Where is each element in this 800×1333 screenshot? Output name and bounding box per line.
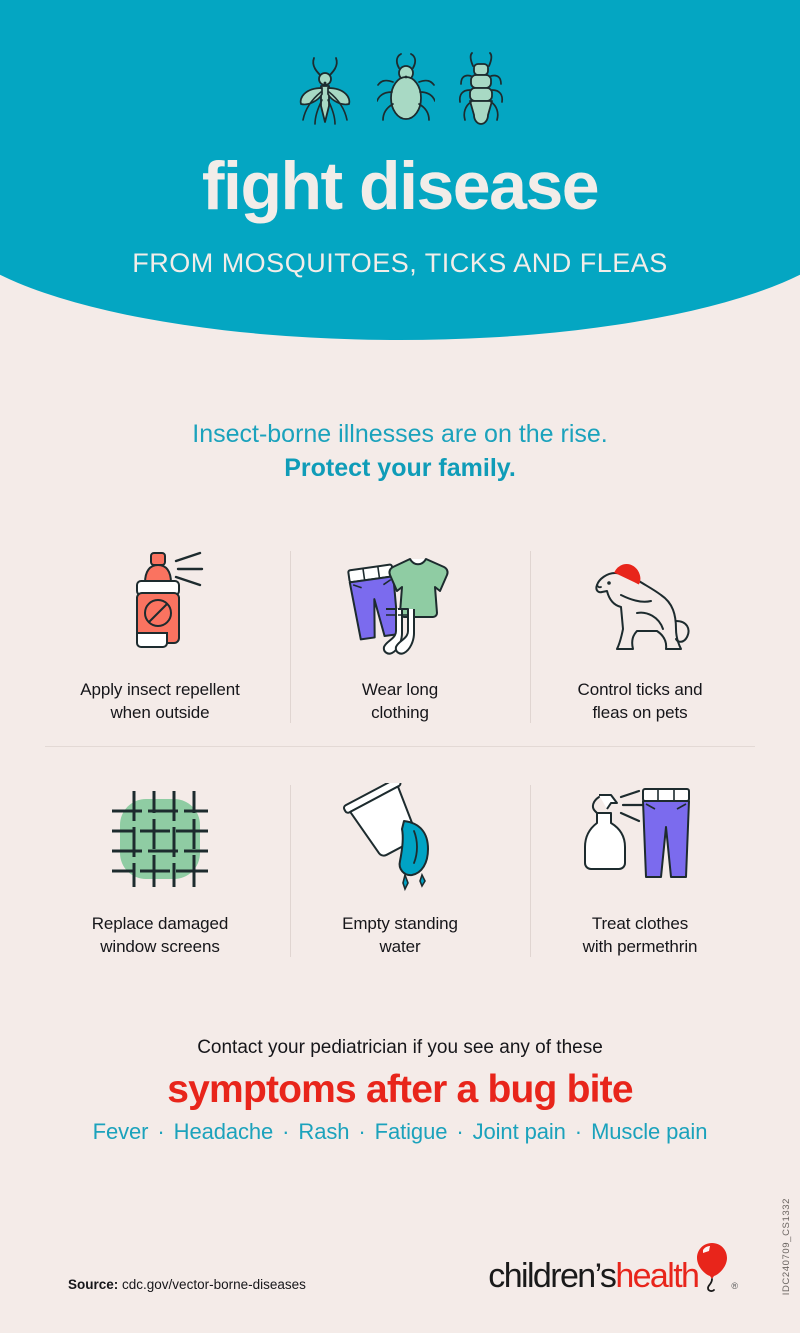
tip-caption-line1: Apply insect repellent xyxy=(80,680,239,699)
tips-row-1: Apply insect repellent when outside xyxy=(40,545,760,725)
tip-caption-line1: Control ticks and xyxy=(578,680,703,699)
tip-caption-line2: water xyxy=(379,937,420,956)
symptom-item: Muscle pain xyxy=(591,1119,707,1144)
logo-word-childrens: children’s xyxy=(488,1257,615,1295)
tip-item-repellent: Apply insect repellent when outside xyxy=(40,545,280,725)
page-subtitle: FROM MOSQUITOES, TICKS AND FLEAS xyxy=(0,248,800,279)
spray-bottle-pants-icon xyxy=(575,783,705,895)
tip-item-pets: Control ticks and fleas on pets xyxy=(520,545,760,725)
flea-icon xyxy=(457,52,505,130)
tip-item-window-screens: Replace damaged window screens xyxy=(40,779,280,959)
tip-art xyxy=(581,545,699,665)
registered-trademark: ® xyxy=(731,1281,738,1291)
tip-caption: Treat clothes with permethrin xyxy=(583,913,698,959)
tip-caption-line2: when outside xyxy=(111,703,210,722)
window-screen-mesh-icon xyxy=(108,787,212,891)
source-citation: Source: cdc.gov/vector-borne-diseases xyxy=(68,1277,306,1292)
tip-caption-line1: Empty standing xyxy=(342,914,458,933)
bucket-pouring-water-icon xyxy=(342,783,458,895)
tip-art xyxy=(575,779,705,899)
symptom-item: Joint pain xyxy=(473,1119,566,1144)
symptom-separator: · xyxy=(148,1119,173,1144)
symptom-separator: · xyxy=(349,1119,374,1144)
tip-caption-line2: with permethrin xyxy=(583,937,698,956)
tip-caption: Apply insect repellent when outside xyxy=(80,679,239,725)
tip-caption-line2: clothing xyxy=(371,703,429,722)
symptoms-section: Contact your pediatrician if you see any… xyxy=(0,1035,800,1145)
repellent-spray-can-icon xyxy=(114,549,206,661)
symptom-separator: · xyxy=(566,1119,591,1144)
prevention-tips-grid: Apply insect repellent when outside xyxy=(40,545,760,959)
tip-caption: Replace damaged window screens xyxy=(92,913,228,959)
tip-caption: Wear long clothing xyxy=(362,679,438,725)
header-banner: fight disease FROM MOSQUITOES, TICKS AND… xyxy=(0,0,800,340)
symptom-item: Headache xyxy=(174,1119,274,1144)
mosquito-icon xyxy=(295,52,355,130)
insect-icon-row xyxy=(0,52,800,130)
tip-caption: Control ticks and fleas on pets xyxy=(578,679,703,725)
symptoms-headline: symptoms after a bug bite xyxy=(0,1068,800,1112)
logo-wordmark: children’shealth xyxy=(488,1259,698,1293)
symptom-separator: · xyxy=(273,1119,298,1144)
tick-icon xyxy=(377,52,435,130)
tip-art xyxy=(336,545,464,665)
symptom-item: Rash xyxy=(298,1119,349,1144)
tip-caption: Empty standing water xyxy=(342,913,458,959)
infographic-page: { "header": { "title": "fight disease", … xyxy=(0,0,800,1333)
symptom-item: Fever xyxy=(93,1119,149,1144)
page-title: fight disease xyxy=(0,152,800,220)
long-clothing-icon xyxy=(336,551,464,659)
tip-art xyxy=(114,545,206,665)
tip-art xyxy=(108,779,212,899)
row-divider-horizontal xyxy=(45,746,755,747)
symptoms-list: Fever · Headache · Rash · Fatigue · Join… xyxy=(0,1119,800,1145)
symptom-separator: · xyxy=(447,1119,472,1144)
lead-line-1: Insect-borne illnesses are on the rise. xyxy=(0,418,800,452)
logo-word-health: health xyxy=(615,1257,698,1295)
symptom-item: Fatigue xyxy=(375,1119,448,1144)
tip-caption-line2: window screens xyxy=(100,937,220,956)
tips-row-2: Replace damaged window screens Empt xyxy=(40,779,760,959)
dog-with-tick-icon xyxy=(581,551,699,659)
source-label: Source: xyxy=(68,1277,118,1292)
tip-caption-line1: Treat clothes xyxy=(592,914,688,933)
tip-art xyxy=(342,779,458,899)
lead-line-2: Protect your family. xyxy=(0,452,800,486)
side-document-code: IDC240709_CS1332 xyxy=(781,1198,792,1295)
lead-statement: Insect-borne illnesses are on the rise. … xyxy=(0,418,800,486)
footer: Source: cdc.gov/vector-borne-diseases ch… xyxy=(0,1213,800,1333)
tip-item-standing-water: Empty standing water xyxy=(280,779,520,959)
tip-caption-line2: fleas on pets xyxy=(592,703,687,722)
symptoms-intro: Contact your pediatrician if you see any… xyxy=(0,1035,800,1062)
source-value: cdc.gov/vector-borne-diseases xyxy=(122,1277,306,1292)
tip-item-permethrin: Treat clothes with permethrin xyxy=(520,779,760,959)
tip-item-long-clothing: Wear long clothing xyxy=(280,545,520,725)
tip-caption-line1: Wear long xyxy=(362,680,438,699)
tip-caption-line1: Replace damaged xyxy=(92,914,228,933)
childrens-health-logo[interactable]: children’shealth ® xyxy=(488,1241,738,1293)
balloon-icon xyxy=(696,1241,730,1293)
